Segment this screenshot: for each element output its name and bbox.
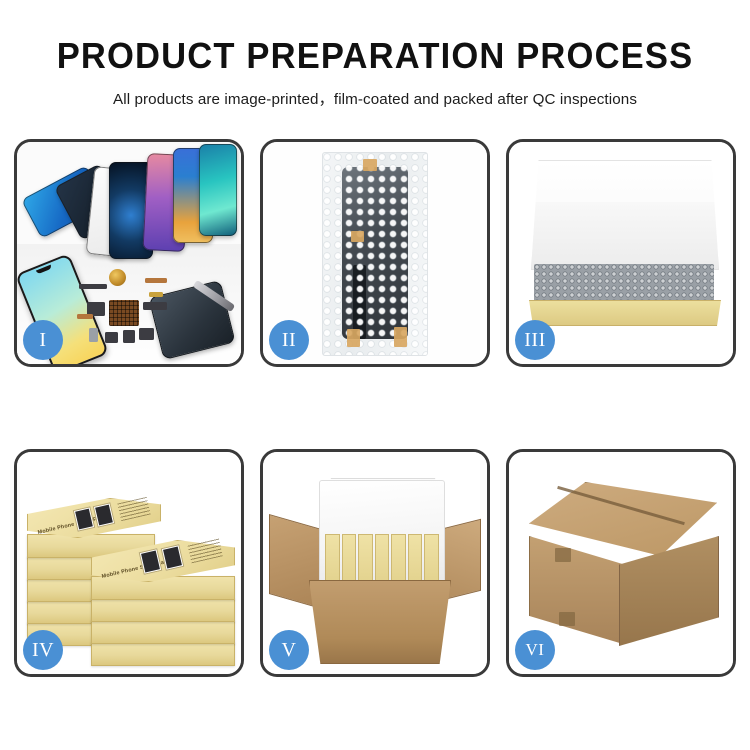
small-part [105,332,118,343]
box-front-panel [525,300,725,326]
bubble-wrap-padding [534,264,714,302]
step-badge-4: IV [23,630,63,670]
stacked-box [91,642,235,666]
process-step-panel-5[interactable]: V [260,449,490,677]
carton-left-face [529,536,623,644]
small-part [123,330,135,343]
step-badge-5: V [269,630,309,670]
phone-notch [36,265,52,275]
boxed-unit [325,534,340,588]
tape-piece [394,327,407,347]
step-badge-2: II [269,320,309,360]
process-step-panel-3[interactable]: III [506,139,736,367]
speaker-component [109,269,126,286]
process-steps-grid: I II III [14,139,736,677]
stacked-box [91,620,235,644]
process-step-panel-1[interactable]: I [14,139,244,367]
carton-tab [555,548,571,562]
logic-board-component [109,300,139,326]
small-part [79,284,107,289]
boxed-unit [408,534,423,588]
phone-device-teal [199,144,237,236]
process-step-panel-4[interactable]: Mobile Phone Spare Parts Mobile Phone Sp… [14,449,244,677]
carton-tab [559,612,575,626]
page-header: PRODUCT PREPARATION PROCESS All products… [0,0,750,109]
process-step-panel-2[interactable]: II [260,139,490,367]
boxed-unit [342,534,357,588]
small-part [143,302,167,310]
bubble-wrap-bag [322,152,428,356]
tape-piece [363,159,377,171]
tape-piece [347,329,360,347]
carton-body [309,580,451,664]
stacked-box [91,576,235,600]
boxed-unit [424,534,439,588]
page-title: PRODUCT PREPARATION PROCESS [15,37,735,75]
process-step-panel-6[interactable]: VI [506,449,736,677]
step-badge-3: III [515,320,555,360]
stacked-box [91,598,235,622]
tape-piece [351,231,364,242]
small-part [145,278,167,283]
page-subtitle: All products are image-printed，film-coat… [0,87,750,109]
step-badge-1: I [23,320,63,360]
boxed-unit [391,534,406,588]
small-part [139,328,154,340]
boxed-unit [375,534,390,588]
small-part [77,314,93,319]
carton-right-face [619,536,719,646]
bubble-texture [323,153,427,355]
small-part [89,328,98,342]
boxed-unit [358,534,373,588]
box-lid-open [531,160,719,270]
step-badge-6: VI [515,630,555,670]
small-part [149,292,163,297]
